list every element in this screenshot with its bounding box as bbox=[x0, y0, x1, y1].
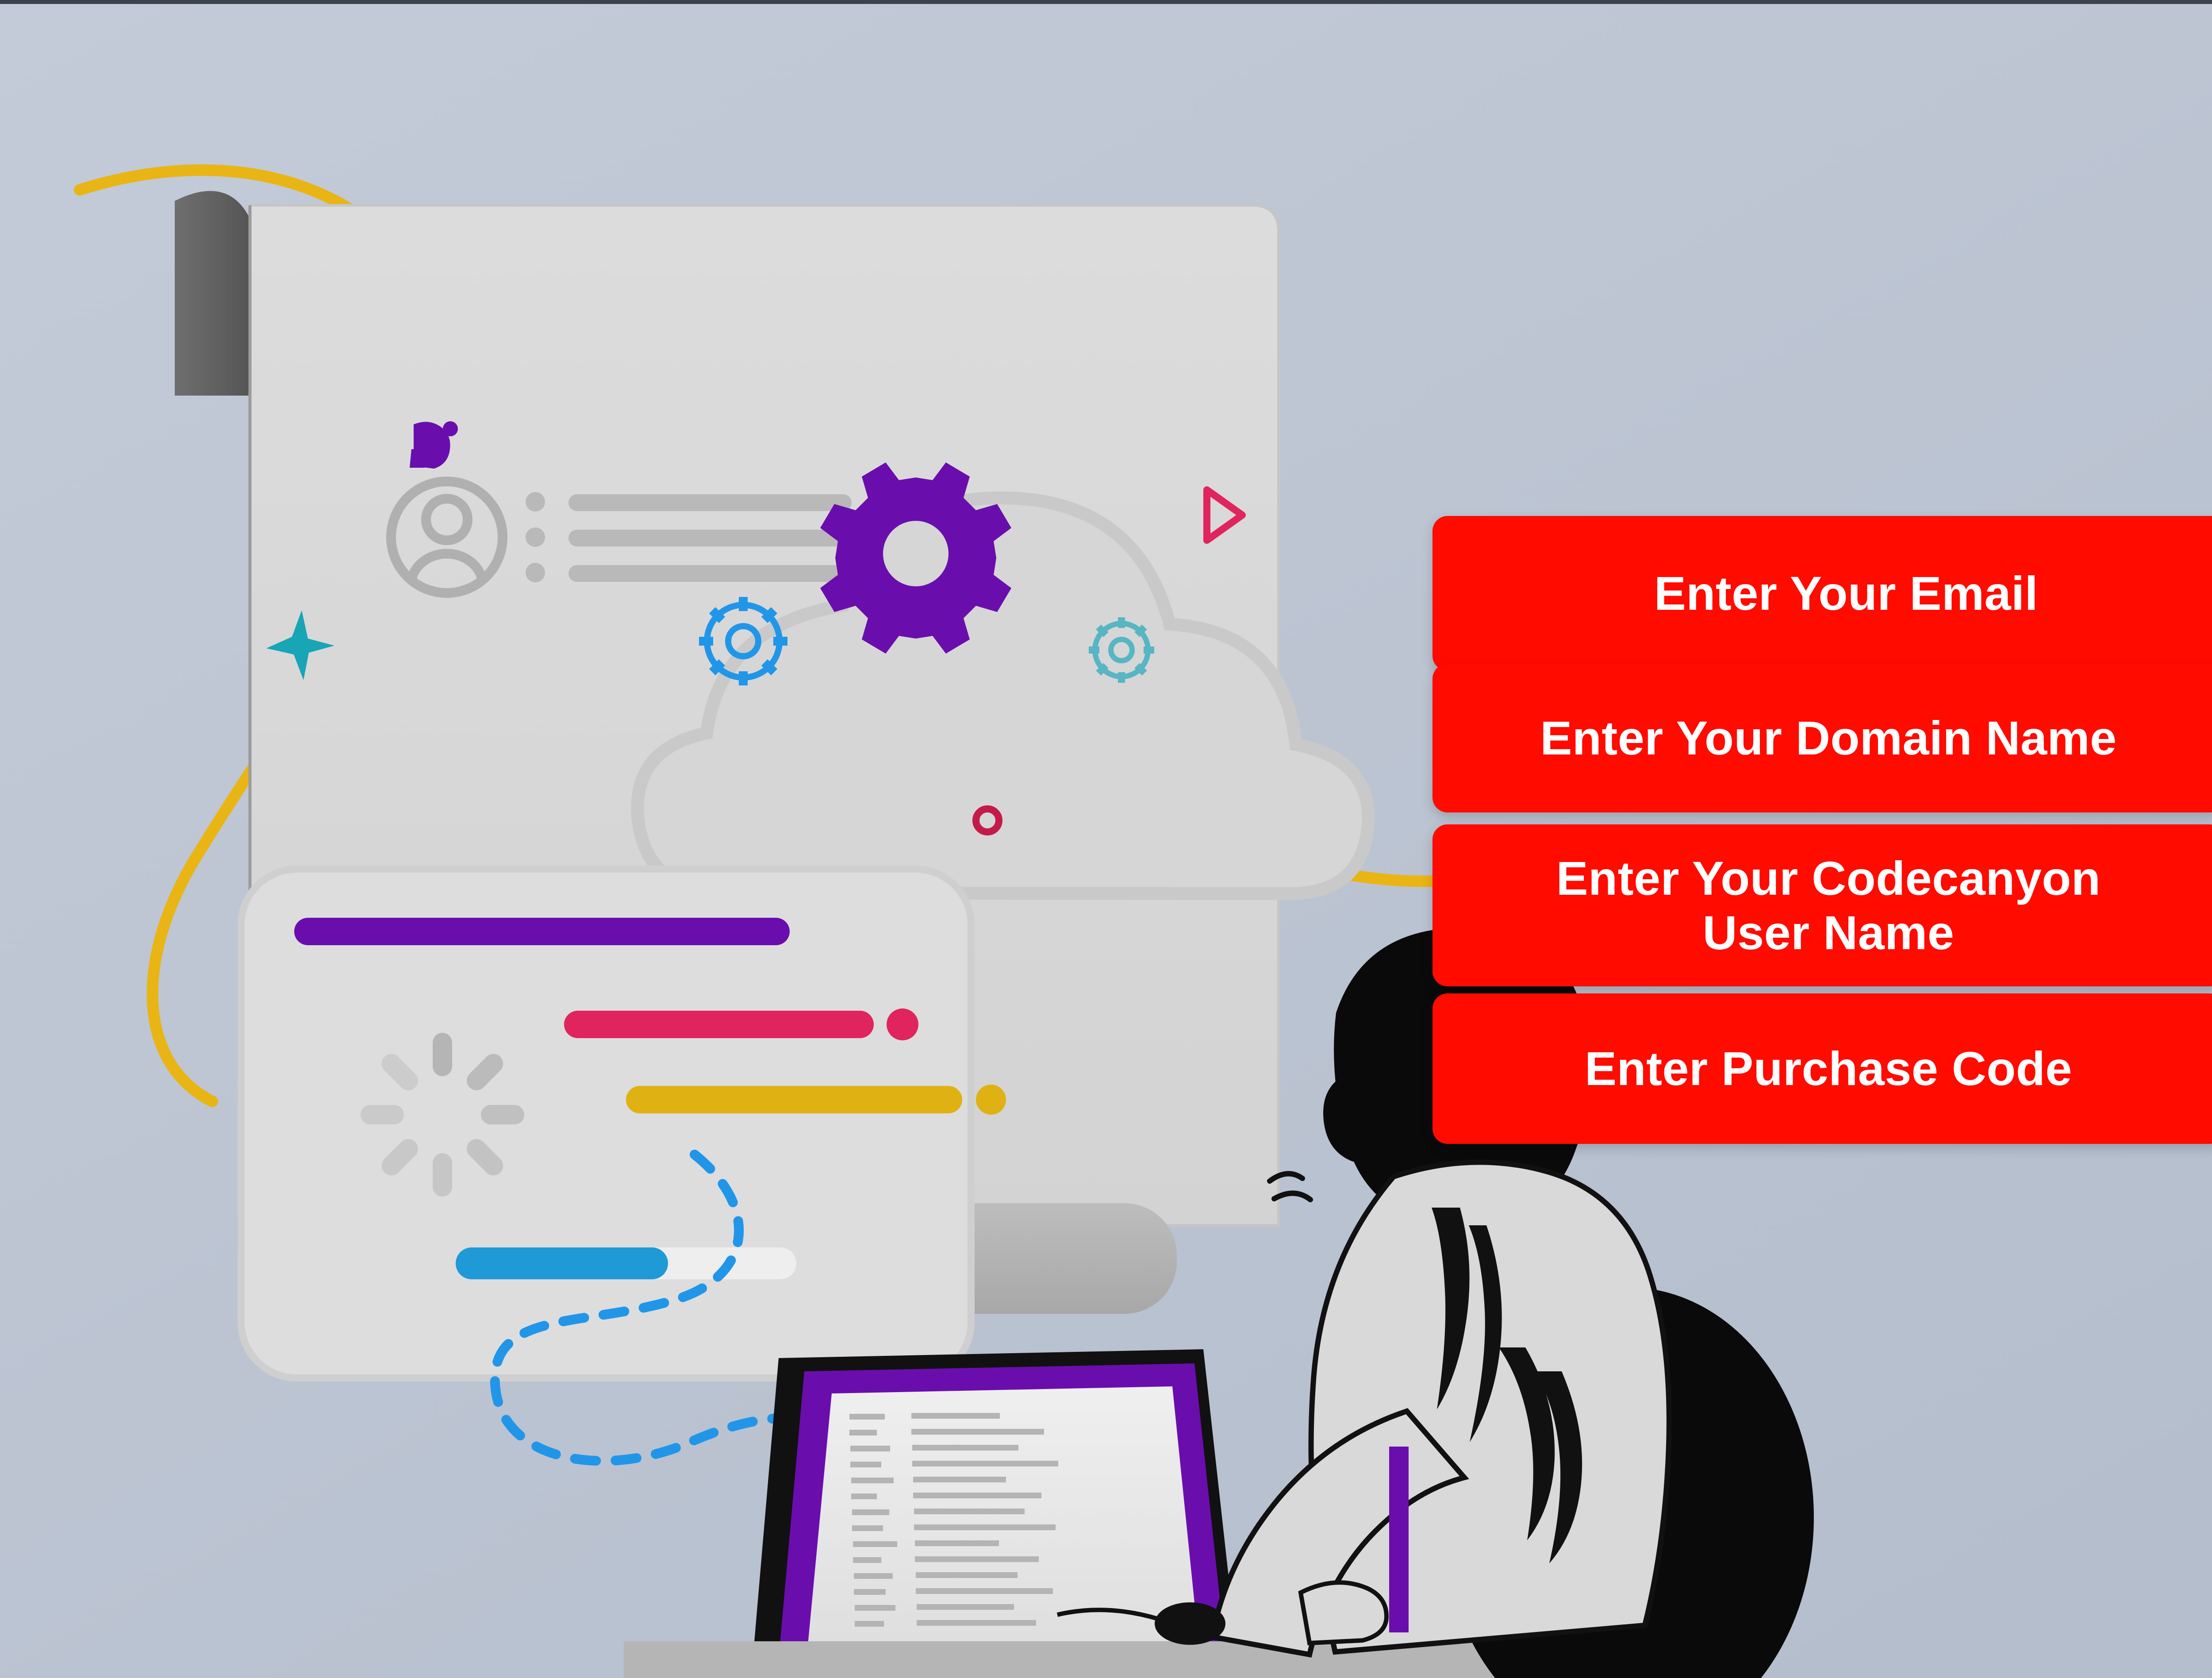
progress-dot-yellow bbox=[976, 1085, 1006, 1115]
callout-enter-domain: Enter Your Domain Name bbox=[1432, 664, 2212, 812]
progress-line-purple bbox=[294, 918, 790, 945]
callout-enter-email: Enter Your Email bbox=[1432, 516, 2212, 671]
progress-line-pink bbox=[564, 1011, 874, 1038]
callout-email-label: Enter Your Email bbox=[1630, 566, 2062, 620]
document-list-lines bbox=[568, 494, 852, 582]
progress-fill-blue bbox=[456, 1247, 668, 1279]
callout-username-label: Enter Your Codecanyon User Name bbox=[1532, 851, 2125, 960]
callout-enter-username: Enter Your Codecanyon User Name bbox=[1432, 824, 2212, 986]
callout-domain-label: Enter Your Domain Name bbox=[1516, 711, 2140, 765]
callout-enter-purchase-code: Enter Purchase Code bbox=[1432, 993, 2212, 1144]
progress-dot-pink bbox=[887, 1008, 918, 1040]
progress-line-yellow bbox=[626, 1086, 962, 1113]
browser-top-edge bbox=[0, 0, 2212, 4]
loading-card bbox=[241, 869, 1006, 1378]
list-bullets-icon bbox=[526, 492, 545, 582]
callout-purchase-code-label: Enter Purchase Code bbox=[1561, 1041, 2096, 1096]
